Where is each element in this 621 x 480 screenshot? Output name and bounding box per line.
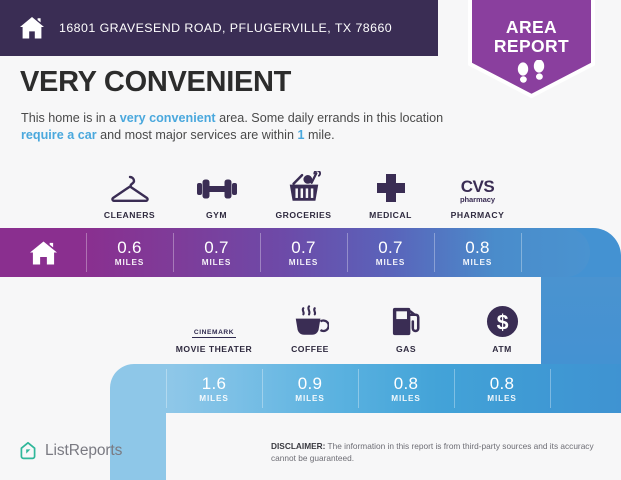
amenity-gas: GAS [358, 302, 454, 354]
amenity-movie-theater: CINEMARK MOVIE THEATER [166, 302, 262, 354]
distance-value: 0.8 [465, 239, 490, 257]
gas-pump-icon [390, 302, 423, 338]
address-text: 16801 GRAVESEND ROAD, PFLUGERVILLE, TX 7… [59, 21, 392, 35]
basket-icon [285, 168, 323, 204]
cvs-wordmark: CVS [461, 178, 494, 195]
home-icon [29, 240, 58, 266]
address-bar: 16801 GRAVESEND ROAD, PFLUGERVILLE, TX 7… [0, 0, 438, 56]
amenity-cleaners: CLEANERS [86, 168, 173, 220]
cvs-logo: CVS pharmacy [460, 168, 495, 204]
listreports-logo: ListReports [18, 441, 122, 461]
amenity-label: MEDICAL [369, 210, 412, 220]
svg-text:$: $ [496, 310, 508, 334]
distance-value: 0.8 [490, 375, 515, 393]
amenity-gym: GYM [173, 168, 260, 220]
distance-value: 0.7 [378, 239, 403, 257]
amenity-icon-row-2: CINEMARK MOVIE THEATER COFFEE [166, 302, 550, 354]
intro-text-1: This home is in a [21, 111, 120, 125]
amenity-medical: MEDICAL [347, 168, 434, 220]
distance-cell-coffee: 0.9 MILES [262, 364, 358, 413]
distance-bar-row-1: 0.6 MILES 0.7 MILES 0.7 MILES 0.7 MILES … [0, 228, 590, 277]
distance-value: 1.6 [202, 375, 227, 393]
distance-unit: MILES [463, 258, 493, 267]
ribbon-elbow-fill [541, 277, 621, 364]
bar2-lead-pad [110, 364, 166, 413]
distance-cell-pharmacy: 0.8 MILES [434, 228, 521, 277]
area-report-infographic: 16801 GRAVESEND ROAD, PFLUGERVILLE, TX 7… [0, 0, 621, 480]
dollar-circle-icon: $ [486, 302, 519, 338]
ribbon-tail-notch [166, 413, 200, 480]
area-report-badge: AREA REPORT [466, 0, 597, 100]
distance-unit: MILES [376, 258, 406, 267]
distance-cell-atm: 0.8 MILES [454, 364, 550, 413]
cross-icon [374, 168, 408, 204]
home-icon [19, 16, 45, 40]
amenity-label: GROCERIES [275, 210, 331, 220]
intro-text-3: and most major services are within [97, 128, 298, 142]
amenity-label: ATM [492, 344, 511, 354]
distance-value: 0.7 [204, 239, 229, 257]
distance-value: 0.7 [291, 239, 316, 257]
cinemark-logo: CINEMARK [192, 302, 236, 338]
distance-cell-cleaners: 0.6 MILES [86, 228, 173, 277]
distance-unit: MILES [199, 394, 229, 403]
intro-text-2: area. Some daily errands in this locatio… [216, 111, 444, 125]
amenity-coffee: COFFEE [262, 302, 358, 354]
amenity-atm: $ ATM [454, 302, 550, 354]
badge-line-2: REPORT [494, 36, 569, 56]
listreports-logo-text: ListReports [45, 442, 122, 460]
distance-cell-gym: 0.7 MILES [173, 228, 260, 277]
footprints-icon [514, 60, 550, 86]
distance-bar-row-2: 1.6 MILES 0.9 MILES 0.8 MILES 0.8 MILES [110, 364, 621, 413]
intro-highlight-1: very convenient [120, 111, 216, 125]
badge-line-1: AREA [506, 17, 557, 37]
amenity-label: PHARMACY [451, 210, 505, 220]
amenity-icon-row-1: CLEANERS GYM [86, 168, 521, 220]
intro-highlight-3: 1 [297, 128, 304, 142]
bar-end-pad [521, 228, 590, 277]
disclaimer: DISCLAIMER: The information in this repo… [271, 441, 601, 464]
intro-highlight-2: require a car [21, 128, 97, 142]
bar2-end-pad [550, 364, 621, 413]
distance-unit: MILES [391, 394, 421, 403]
amenity-label: CLEANERS [104, 210, 155, 220]
page-title: VERY CONVENIENT [20, 66, 291, 99]
badge-label: AREA REPORT [466, 18, 597, 55]
distance-unit: MILES [115, 258, 145, 267]
distance-unit: MILES [202, 258, 232, 267]
distance-value: 0.6 [117, 239, 142, 257]
distance-cell-groceries: 0.7 MILES [260, 228, 347, 277]
intro-text-4: mile. [305, 128, 335, 142]
listreports-house-icon [18, 441, 38, 461]
distance-value: 0.8 [394, 375, 419, 393]
amenity-label: MOVIE THEATER [176, 344, 253, 354]
cinemark-wordmark: CINEMARK [194, 329, 234, 336]
disclaimer-label: DISCLAIMER: [271, 441, 325, 451]
amenity-pharmacy: CVS pharmacy PHARMACY [434, 168, 521, 220]
distance-cell-movie-theater: 1.6 MILES [166, 364, 262, 413]
cvs-subtext: pharmacy [460, 196, 495, 204]
intro-description: This home is in a very convenient area. … [21, 110, 451, 143]
distance-unit: MILES [487, 394, 517, 403]
cinemark-underline [192, 337, 236, 338]
distance-unit: MILES [295, 394, 325, 403]
distance-value: 0.9 [298, 375, 323, 393]
amenity-label: GAS [396, 344, 416, 354]
distance-unit: MILES [289, 258, 319, 267]
dumbbell-icon [195, 168, 239, 204]
distance-cell-gas: 0.8 MILES [358, 364, 454, 413]
amenity-groceries: GROCERIES [260, 168, 347, 220]
amenity-label: COFFEE [291, 344, 329, 354]
amenity-label: GYM [206, 210, 227, 220]
hanger-icon [110, 168, 150, 204]
distance-cell-medical: 0.7 MILES [347, 228, 434, 277]
home-marker-segment [0, 228, 86, 277]
coffee-cup-icon [291, 302, 329, 338]
